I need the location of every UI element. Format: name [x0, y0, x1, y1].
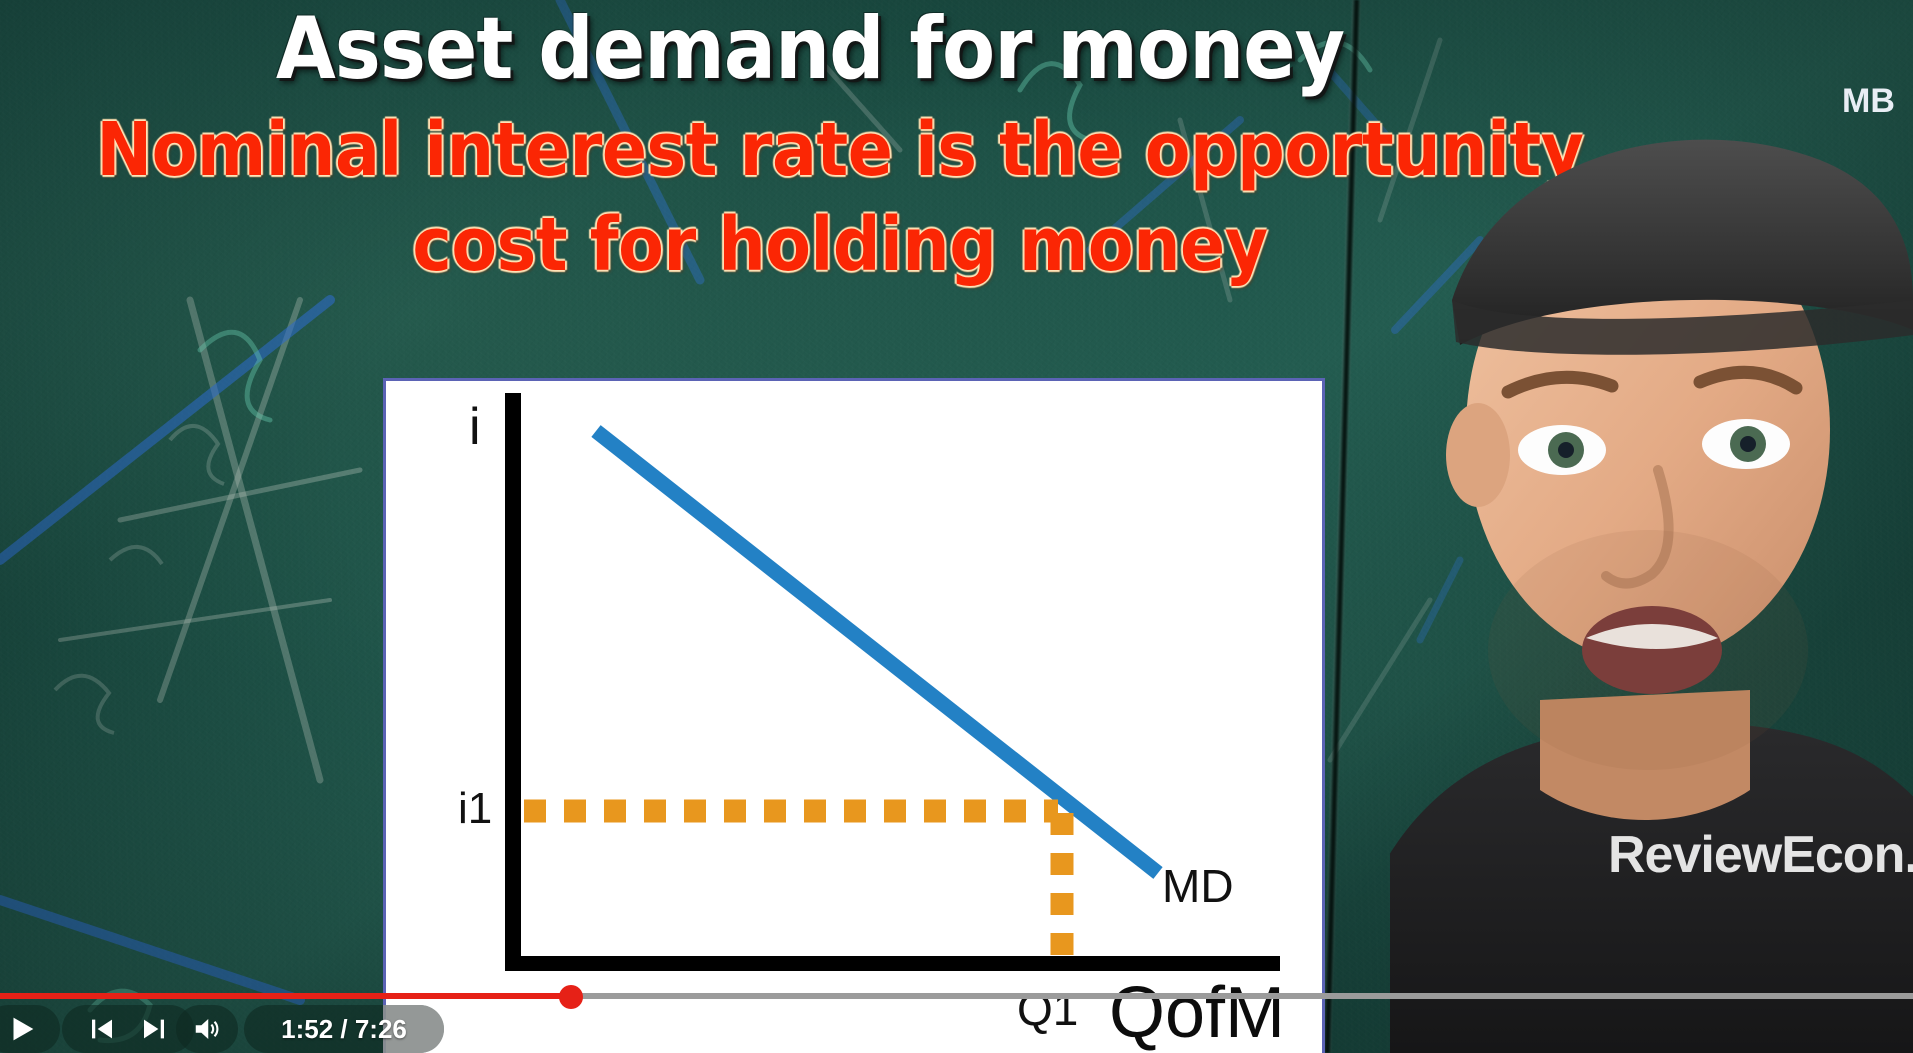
- md-curve-graphic: [386, 381, 1325, 1053]
- chart-panel: i i1 MD Q1 QofM: [383, 378, 1325, 1053]
- shirt-logo-text: ReviewEcon.: [1608, 826, 1913, 884]
- previous-track-icon[interactable]: [87, 1014, 117, 1044]
- presenter-webcam: MB ReviewEcon.: [1390, 0, 1913, 1053]
- volume-button[interactable]: [176, 1005, 238, 1053]
- md-demand-line: [596, 431, 1158, 873]
- video-progress-played: [0, 993, 573, 999]
- volume-icon: [192, 1014, 222, 1044]
- slide-title: Asset demand for money: [0, 6, 1620, 92]
- play-icon: [5, 1012, 39, 1046]
- next-track-icon[interactable]: [139, 1014, 169, 1044]
- cap-logo-text: MB: [1842, 82, 1895, 120]
- time-display: 1:52 / 7:26: [244, 1005, 444, 1053]
- video-frame: Asset demand for money Nominal interest …: [0, 0, 1913, 1053]
- video-progress-thumb[interactable]: [559, 985, 583, 1009]
- play-button[interactable]: [0, 1005, 60, 1053]
- video-progress-bar[interactable]: [0, 993, 1913, 999]
- skip-buttons-group: [62, 1005, 194, 1053]
